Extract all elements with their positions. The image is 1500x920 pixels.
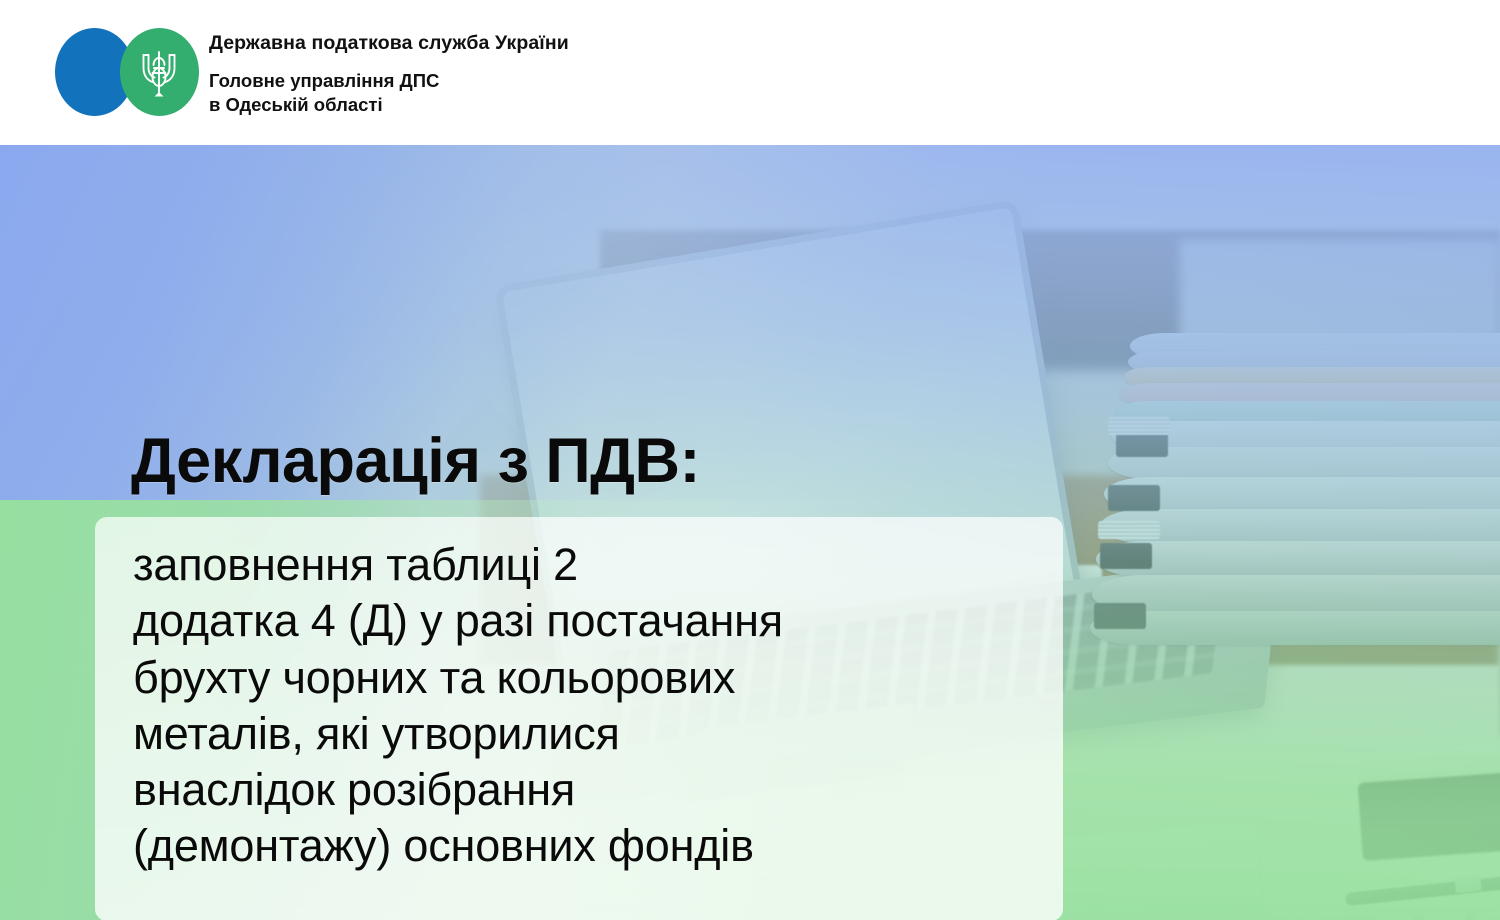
header-text-block: Державна податкова служба України Головн… xyxy=(209,32,909,117)
banner-stage: Декларація з ПДВ: заповнення таблиці 2 д… xyxy=(0,145,1500,920)
org-title-main: Державна податкова служба України xyxy=(209,32,909,54)
org-title-sub: Головне управління ДПС в Одеській област… xyxy=(209,69,909,116)
banner-body-text: заповнення таблиці 2 додатка 4 (Д) у раз… xyxy=(133,537,1063,875)
header-bar: Державна податкова служба України Головн… xyxy=(0,0,1500,145)
agency-logo xyxy=(55,28,195,116)
trident-icon xyxy=(137,46,181,100)
banner-headline: Декларація з ПДВ: xyxy=(131,428,700,494)
